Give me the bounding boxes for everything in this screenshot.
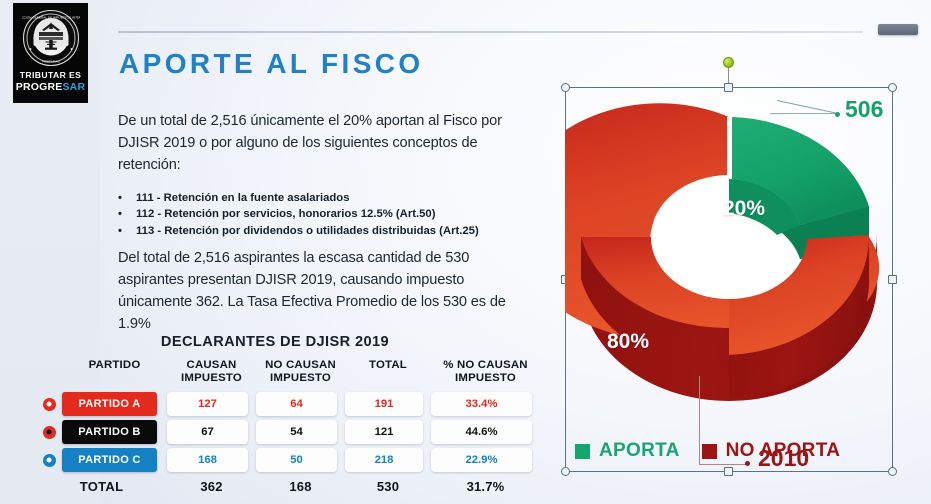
list-item-label: 112 - Retención por servicios, honorario… [136, 206, 435, 222]
cell-causan-c: 168 [167, 448, 248, 472]
list-item: • 113 - Retención por dividendos o utili… [118, 223, 538, 239]
total-causan: 362 [167, 479, 256, 494]
header-divider-line [118, 31, 863, 33]
callout-leader-2010-horizontal [699, 464, 746, 465]
total-row-label: TOTAL [36, 479, 167, 494]
row-marker-cell [36, 454, 62, 467]
cell-pct-a: 33.4% [431, 392, 532, 416]
slice-label-aporta-percent: 20% [723, 197, 765, 221]
chart-legend: APORTA NO APORTA [575, 440, 862, 462]
resize-handle-bottom-right[interactable] [888, 467, 897, 476]
callout-value-506: 506 [845, 96, 883, 123]
list-item-label: 113 - Retención por dividendos o utilida… [136, 223, 479, 239]
total-total: 530 [345, 479, 431, 494]
column-header-partido: PARTIDO [62, 356, 167, 372]
table-row[interactable]: PARTIDO A 127 64 191 33.4% [36, 392, 542, 417]
callout-dot-506 [835, 112, 840, 117]
total-pct: 31.7% [431, 479, 540, 494]
party-label-a: PARTIDO A [62, 392, 157, 416]
table-row[interactable]: PARTIDO B 67 54 121 44.6% [36, 420, 542, 445]
declarantes-table: PARTIDO CAUSAN IMPUESTO NO CAUSAN IMPUES… [36, 356, 542, 501]
svg-text:DIRECCION GENERAL DE IMPUESTOS: DIRECCION GENERAL DE IMPUESTOS INTERNOS [22, 16, 80, 20]
list-item: • 112 - Retención por servicios, honorar… [118, 206, 538, 222]
slice-label-noaporta-percent: 80% [607, 330, 649, 354]
cell-causan-b: 67 [167, 420, 248, 444]
svg-text:HONDURAS: HONDURAS [42, 59, 59, 63]
slide-canvas: DIRECCION GENERAL DE IMPUESTOS INTERNOS … [0, 0, 931, 504]
cell-total-c: 218 [345, 448, 423, 472]
row-marker-cell [36, 398, 62, 411]
cell-pct-c: 22.9% [431, 448, 532, 472]
resize-handle-bottom-left[interactable] [561, 467, 570, 476]
list-item-label: 111 - Retención en la fuente asalariados [136, 190, 349, 206]
chart-object-doughnut[interactable]: 20% 80% 506 2010 APORTA NO APORTA [565, 87, 893, 472]
bullet-dot-icon: • [118, 206, 136, 222]
cell-no-causan-b: 54 [256, 420, 337, 444]
callout-leader-506 [770, 113, 838, 114]
row-marker-cell [36, 426, 62, 439]
cell-no-causan-a: 64 [256, 392, 337, 416]
party-label-b: PARTIDO B [62, 420, 157, 444]
government-seal-icon: DIRECCION GENERAL DE IMPUESTOS INTERNOS … [22, 9, 80, 67]
resize-handle-bottom-center[interactable] [724, 467, 733, 476]
radio-ring-blue-icon [43, 454, 56, 467]
column-header-no-causan-impuesto: NO CAUSAN IMPUESTO [256, 356, 345, 386]
party-label-c: PARTIDO C [62, 448, 157, 472]
bullet-dot-icon: • [118, 190, 136, 206]
bullet-dot-icon: • [118, 223, 136, 239]
summary-paragraph: Del total de 2,516 aspirantes la escasa … [118, 247, 524, 335]
logo-tagline-line2: PROGRESAR [16, 81, 86, 93]
logo-word-progre: PROGRE [16, 81, 63, 93]
intro-paragraph: De un total de 2,516 únicamente el 20% a… [118, 110, 518, 176]
legend-swatch-green-icon [575, 444, 590, 459]
total-no-causan: 168 [256, 479, 345, 494]
logo-word-sar: SAR [62, 81, 85, 93]
cell-pct-b: 44.6% [431, 420, 532, 444]
table-row[interactable]: PARTIDO C 168 50 218 22.9% [36, 448, 542, 473]
cell-no-causan-c: 50 [256, 448, 337, 472]
table-title: DECLARANTES DE DJISR 2019 [0, 334, 550, 350]
legend-swatch-red-icon [702, 444, 717, 459]
list-item: • 111 - Retención en la fuente asalariad… [118, 190, 538, 206]
radio-dot-black-icon [43, 426, 56, 439]
cell-causan-a: 127 [167, 392, 248, 416]
page-title: APORTE AL FISCO [119, 48, 424, 80]
rotate-handle[interactable] [723, 57, 734, 68]
header-grey-tab [878, 24, 918, 35]
column-header-pct-no-causan: % NO CAUSAN IMPUESTO [431, 356, 540, 386]
logo-tagline-line1: TRIBUTAR ES [20, 70, 82, 80]
legend-item-aporta[interactable]: APORTA [575, 440, 680, 462]
legend-label-no-aporta: NO APORTA [726, 440, 841, 462]
cell-total-b: 121 [345, 420, 423, 444]
legend-label-aporta: APORTA [599, 440, 680, 462]
radio-ring-red-icon [43, 398, 56, 411]
legend-item-no-aporta[interactable]: NO APORTA [702, 440, 841, 462]
column-header-causan-impuesto: CAUSAN IMPUESTO [167, 356, 256, 386]
column-header-total: TOTAL [345, 356, 431, 372]
logo-block: DIRECCION GENERAL DE IMPUESTOS INTERNOS … [13, 3, 88, 103]
retention-concepts-list: • 111 - Retención en la fuente asalariad… [118, 190, 538, 239]
cell-total-a: 191 [345, 392, 423, 416]
table-total-row: TOTAL 362 168 530 31.7% [36, 476, 542, 498]
doughnut-3d-graphic[interactable]: 20% 80% [565, 87, 893, 387]
table-header-row: PARTIDO CAUSAN IMPUESTO NO CAUSAN IMPUES… [36, 356, 542, 386]
